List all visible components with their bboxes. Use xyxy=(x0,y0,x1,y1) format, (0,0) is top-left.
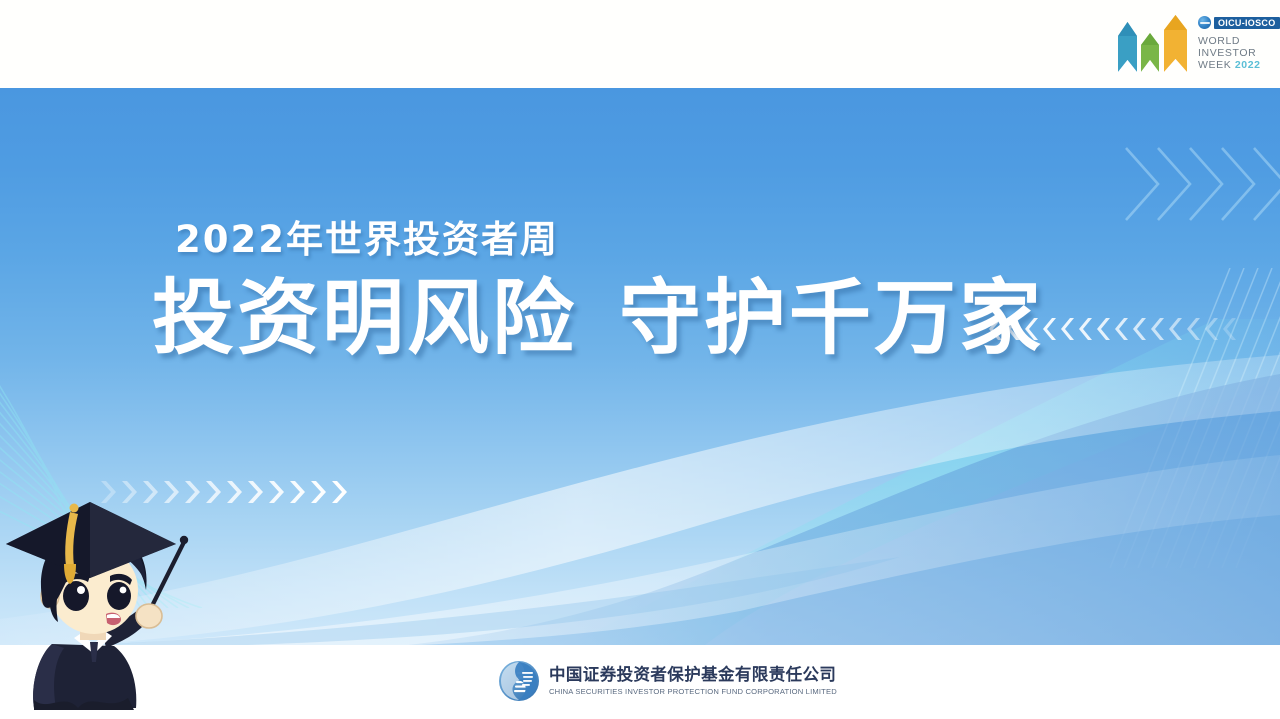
chevron-left-icon xyxy=(1060,316,1077,342)
header-band: OICU-IOSCO WORLD INVESTOR WEEK 2022 xyxy=(0,0,1280,88)
chevron-left-icon xyxy=(1222,316,1239,342)
chevron-right-icon xyxy=(159,478,179,506)
world-investor-week-logo: OICU-IOSCO WORLD INVESTOR WEEK 2022 xyxy=(1106,8,1266,82)
wave-decoration xyxy=(0,319,1280,645)
chevron-left-icon xyxy=(1132,316,1149,342)
iosco-wordmark: OICU-IOSCO xyxy=(1214,17,1280,29)
chevron-right-icon xyxy=(306,478,326,506)
wiw-week-label: WEEK xyxy=(1198,59,1231,71)
sipf-name-en: CHINA SECURITIES INVESTOR PROTECTION FUN… xyxy=(549,688,837,697)
banner-headline: 投资明风险守护千万家 xyxy=(152,276,1044,362)
wiw-line-week: WEEK 2022 xyxy=(1198,60,1261,72)
chevron-left-icon xyxy=(1114,316,1131,342)
chevron-right-icon xyxy=(201,478,221,506)
chevron-left-icon xyxy=(1042,316,1059,342)
chevron-right-icon xyxy=(327,478,347,506)
headline-part-left: 投资明风险 xyxy=(152,271,577,366)
banner-background xyxy=(0,88,1280,645)
headline-part-right: 守护千万家 xyxy=(619,271,1044,366)
iosco-logo: OICU-IOSCO xyxy=(1198,16,1280,29)
chevron-right-icon xyxy=(138,478,158,506)
chevron-left-icon xyxy=(1168,316,1185,342)
banner-subtitle: 2022年世界投资者周 xyxy=(175,209,559,263)
chevron-left-icon xyxy=(1150,316,1167,342)
sipf-logo-icon xyxy=(497,659,541,703)
chevron-left-icon xyxy=(1186,316,1203,342)
globe-icon xyxy=(1198,16,1211,29)
sipf-logo-block: 中国证券投资者保护基金有限责任公司 CHINA SECURITIES INVES… xyxy=(497,659,837,703)
chevron-right-icon xyxy=(285,478,305,506)
diagonal-stripes-decoration xyxy=(1080,268,1280,568)
chevron-right-icon xyxy=(96,478,116,506)
chevron-strip-left xyxy=(96,478,348,506)
pencil-trio-icon xyxy=(1108,14,1194,80)
chevron-right-icon xyxy=(243,478,263,506)
chevron-right-icon xyxy=(117,478,137,506)
chevron-right-icon xyxy=(264,478,284,506)
chevron-outline-decoration xyxy=(1096,108,1280,258)
chevron-left-icon xyxy=(1078,316,1095,342)
chevron-left-icon xyxy=(1204,316,1221,342)
chevron-right-icon xyxy=(180,478,200,506)
chevron-right-icon xyxy=(222,478,242,506)
sipf-name-cn: 中国证券投资者保护基金有限责任公司 xyxy=(549,666,837,685)
chevron-left-icon xyxy=(1096,316,1113,342)
sipf-text-block: 中国证券投资者保护基金有限责任公司 CHINA SECURITIES INVES… xyxy=(549,666,837,697)
wiw-line-world: WORLD xyxy=(1198,36,1261,48)
wiw-year: 2022 xyxy=(1235,59,1261,71)
poster-canvas: OICU-IOSCO WORLD INVESTOR WEEK 2022 xyxy=(0,0,1280,719)
wiw-text-block: WORLD INVESTOR WEEK 2022 xyxy=(1198,36,1261,71)
footer-band: 中国证券投资者保护基金有限责任公司 CHINA SECURITIES INVES… xyxy=(0,645,1280,719)
